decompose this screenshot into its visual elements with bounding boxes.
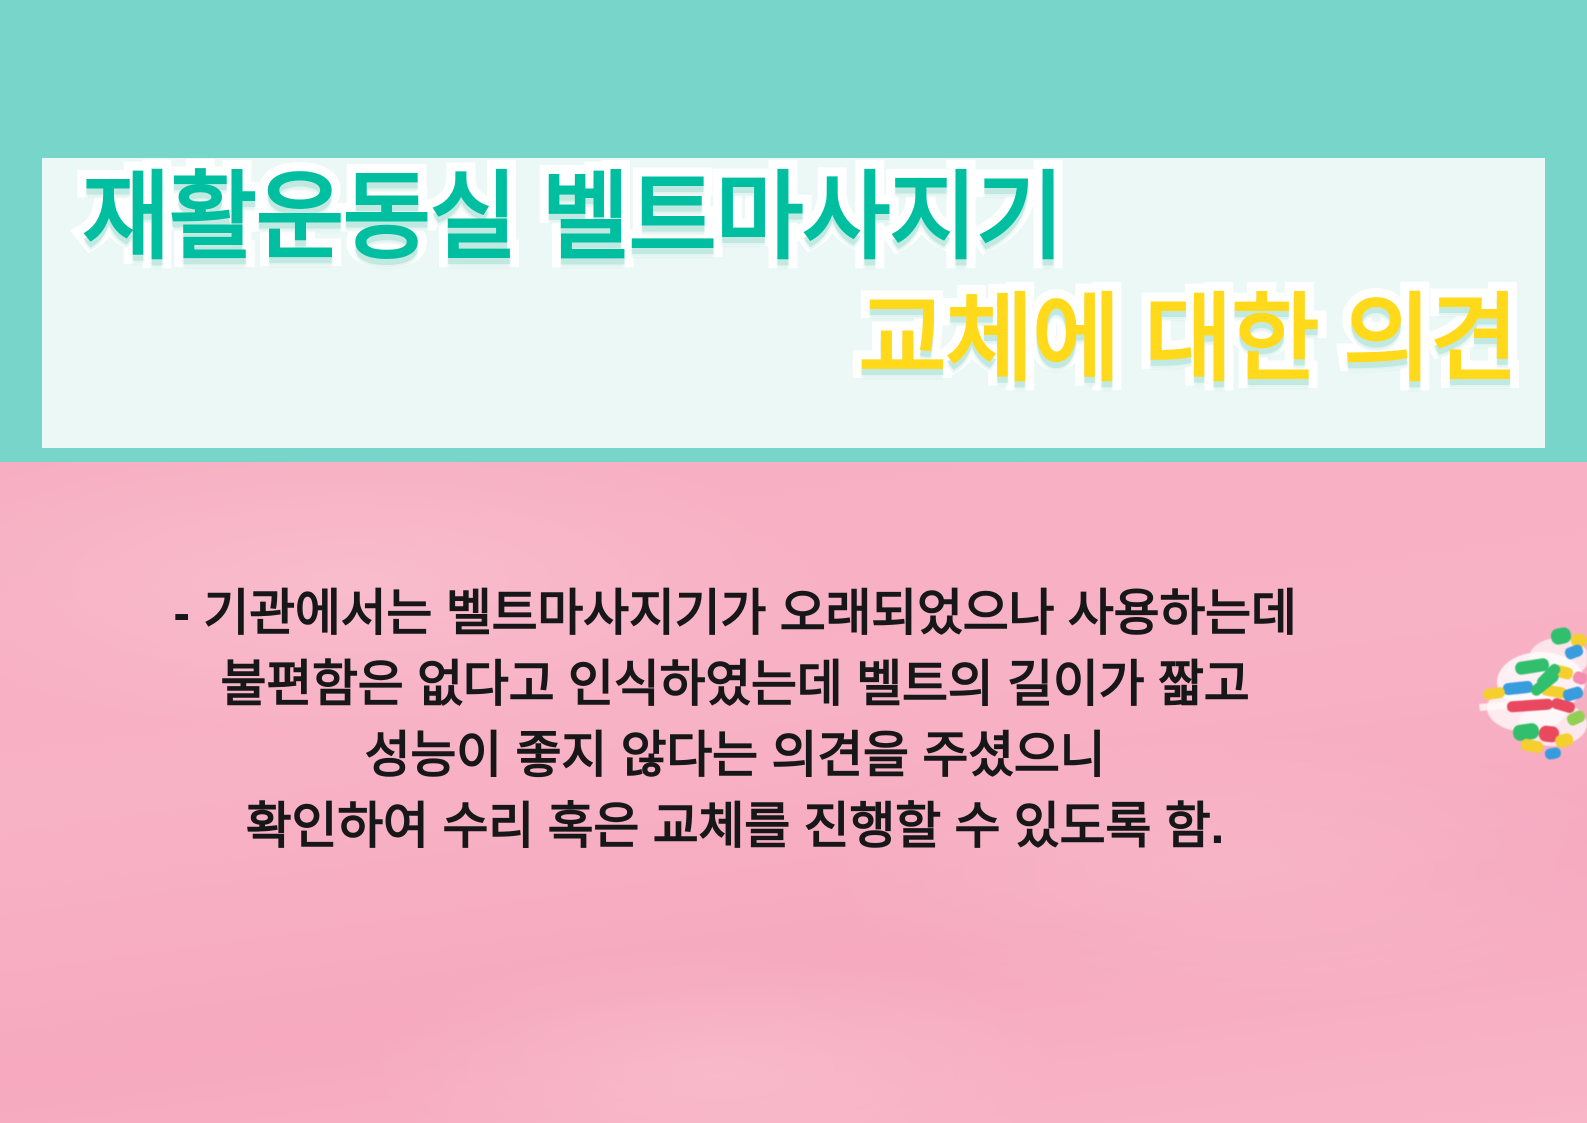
body-line: 불편함은 없다고 인식하였는데 벨트의 길이가 짧고 <box>0 649 1470 720</box>
confetti-decoration-icon <box>1455 612 1587 762</box>
body-line: 확인하여 수리 혹은 교체를 진행할 수 있도록 함. <box>0 791 1470 862</box>
body-line: 성능이 좋지 않다는 의견을 주셨으니 <box>0 720 1470 791</box>
header-panel: 재활운동실 벨트마사지기 교체에 대한 의견 <box>42 158 1545 448</box>
page-title-line-1: 재활운동실 벨트마사지기 <box>82 170 1063 266</box>
slide-canvas: 재활운동실 벨트마사지기 교체에 대한 의견 - 기관에서는 벨트마사지기가 오… <box>0 0 1587 1123</box>
body-line: - 기관에서는 벨트마사지기가 오래되었으나 사용하는데 <box>0 578 1470 649</box>
page-title-line-2: 교체에 대한 의견 <box>858 292 1517 388</box>
body-text-block: - 기관에서는 벨트마사지기가 오래되었으나 사용하는데 불편함은 없다고 인식… <box>0 578 1470 862</box>
